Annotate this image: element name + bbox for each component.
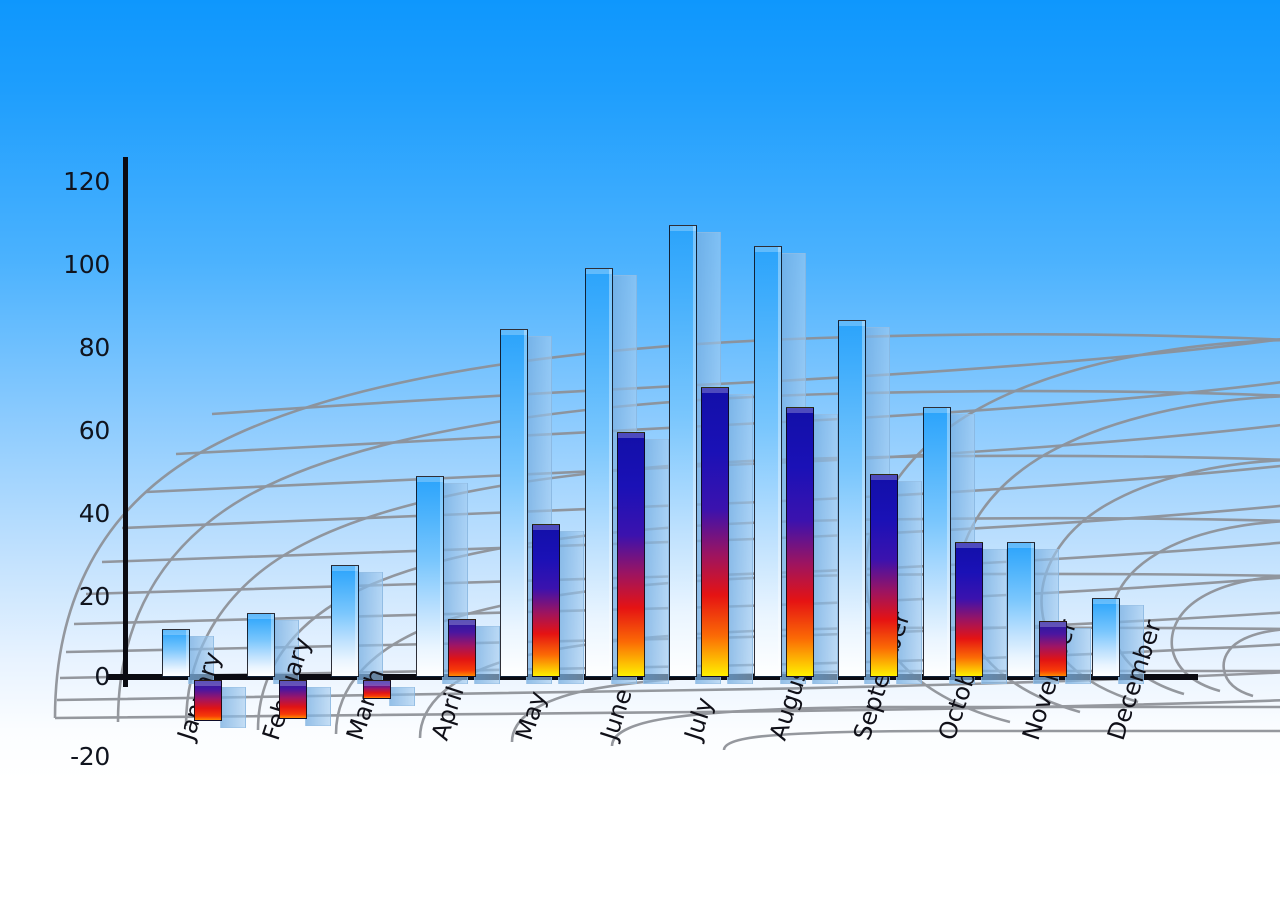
bar-series2[interactable]	[701, 387, 729, 677]
bar-top-cap	[449, 620, 475, 625]
bar-top-cap	[332, 566, 358, 571]
bar-top-cap	[533, 525, 559, 530]
bar-top-cap	[364, 681, 390, 686]
bar-top-cap	[195, 681, 221, 686]
bar-top-cap	[956, 543, 982, 548]
y-axis-line	[123, 157, 128, 687]
bar-series1[interactable]	[162, 629, 190, 677]
bar-top-cap	[501, 330, 527, 335]
bar-top-cap	[924, 408, 950, 413]
x-axis-label-july: July	[679, 694, 719, 744]
bar-top-cap	[280, 681, 306, 686]
bar-series2[interactable]	[786, 407, 814, 677]
bar-series2[interactable]	[870, 474, 898, 677]
bar-series2[interactable]	[279, 680, 307, 719]
bar-series1[interactable]	[838, 320, 866, 677]
bar-series2[interactable]	[194, 680, 222, 721]
bar-series1[interactable]	[669, 225, 697, 677]
bar-top-cap	[1040, 622, 1066, 627]
bar-top-cap	[755, 247, 781, 252]
bar-shadow-series2	[389, 687, 415, 706]
bar-shadow-series2	[643, 439, 669, 684]
bar-series1[interactable]	[416, 476, 444, 677]
bar-top-cap	[670, 226, 696, 231]
bar-shadow-series2	[220, 687, 246, 728]
bar-top-cap	[618, 433, 644, 438]
bar-shadow-series2	[474, 626, 500, 684]
y-tick-label-100: 100	[0, 250, 110, 279]
x-axis-label-may: May	[510, 688, 552, 744]
y-tick-label-20: 20	[0, 582, 110, 611]
bar-top-cap	[1008, 543, 1034, 548]
bar-series1[interactable]	[1007, 542, 1035, 677]
bar-series2[interactable]	[448, 619, 476, 677]
bar-series2[interactable]	[1039, 621, 1067, 677]
bar-series2[interactable]	[363, 680, 391, 699]
bar-top-cap	[163, 630, 189, 635]
bar-shadow-series2	[812, 414, 838, 684]
bar-series2[interactable]	[955, 542, 983, 677]
bar-series1[interactable]	[331, 565, 359, 677]
chart-canvas: 120 100 80 60 40 20 0 -20 JanuaryFebruar…	[0, 0, 1280, 905]
bar-series1[interactable]	[247, 613, 275, 677]
bar-shadow-series2	[727, 394, 753, 684]
bar-series1[interactable]	[585, 268, 613, 677]
bar-top-cap	[702, 388, 728, 393]
bar-series2[interactable]	[617, 432, 645, 677]
y-tick-label-40: 40	[0, 499, 110, 528]
y-tick-label-60: 60	[0, 416, 110, 445]
y-tick-label-0: 0	[0, 662, 110, 691]
bar-top-cap	[586, 269, 612, 274]
bar-top-cap	[417, 477, 443, 482]
bar-top-cap	[839, 321, 865, 326]
bar-top-cap	[871, 475, 897, 480]
bar-top-cap	[1093, 599, 1119, 604]
y-tick-label-120: 120	[0, 167, 110, 196]
y-tick-label-80: 80	[0, 333, 110, 362]
bar-top-cap	[248, 614, 274, 619]
bar-shadow-series2	[558, 531, 584, 684]
bar-series1[interactable]	[923, 407, 951, 677]
plot-area: 120 100 80 60 40 20 0 -20 JanuaryFebruar…	[0, 0, 1280, 905]
x-axis-label-april: April	[426, 683, 470, 744]
bar-series1[interactable]	[754, 246, 782, 677]
y-tick-label-neg20: -20	[0, 742, 110, 771]
x-axis-label-june: June	[595, 685, 638, 743]
bar-shadow-series2	[305, 687, 331, 726]
bar-series1[interactable]	[1092, 598, 1120, 677]
bar-series1[interactable]	[500, 329, 528, 677]
bar-top-cap	[787, 408, 813, 413]
bar-series2[interactable]	[532, 524, 560, 677]
